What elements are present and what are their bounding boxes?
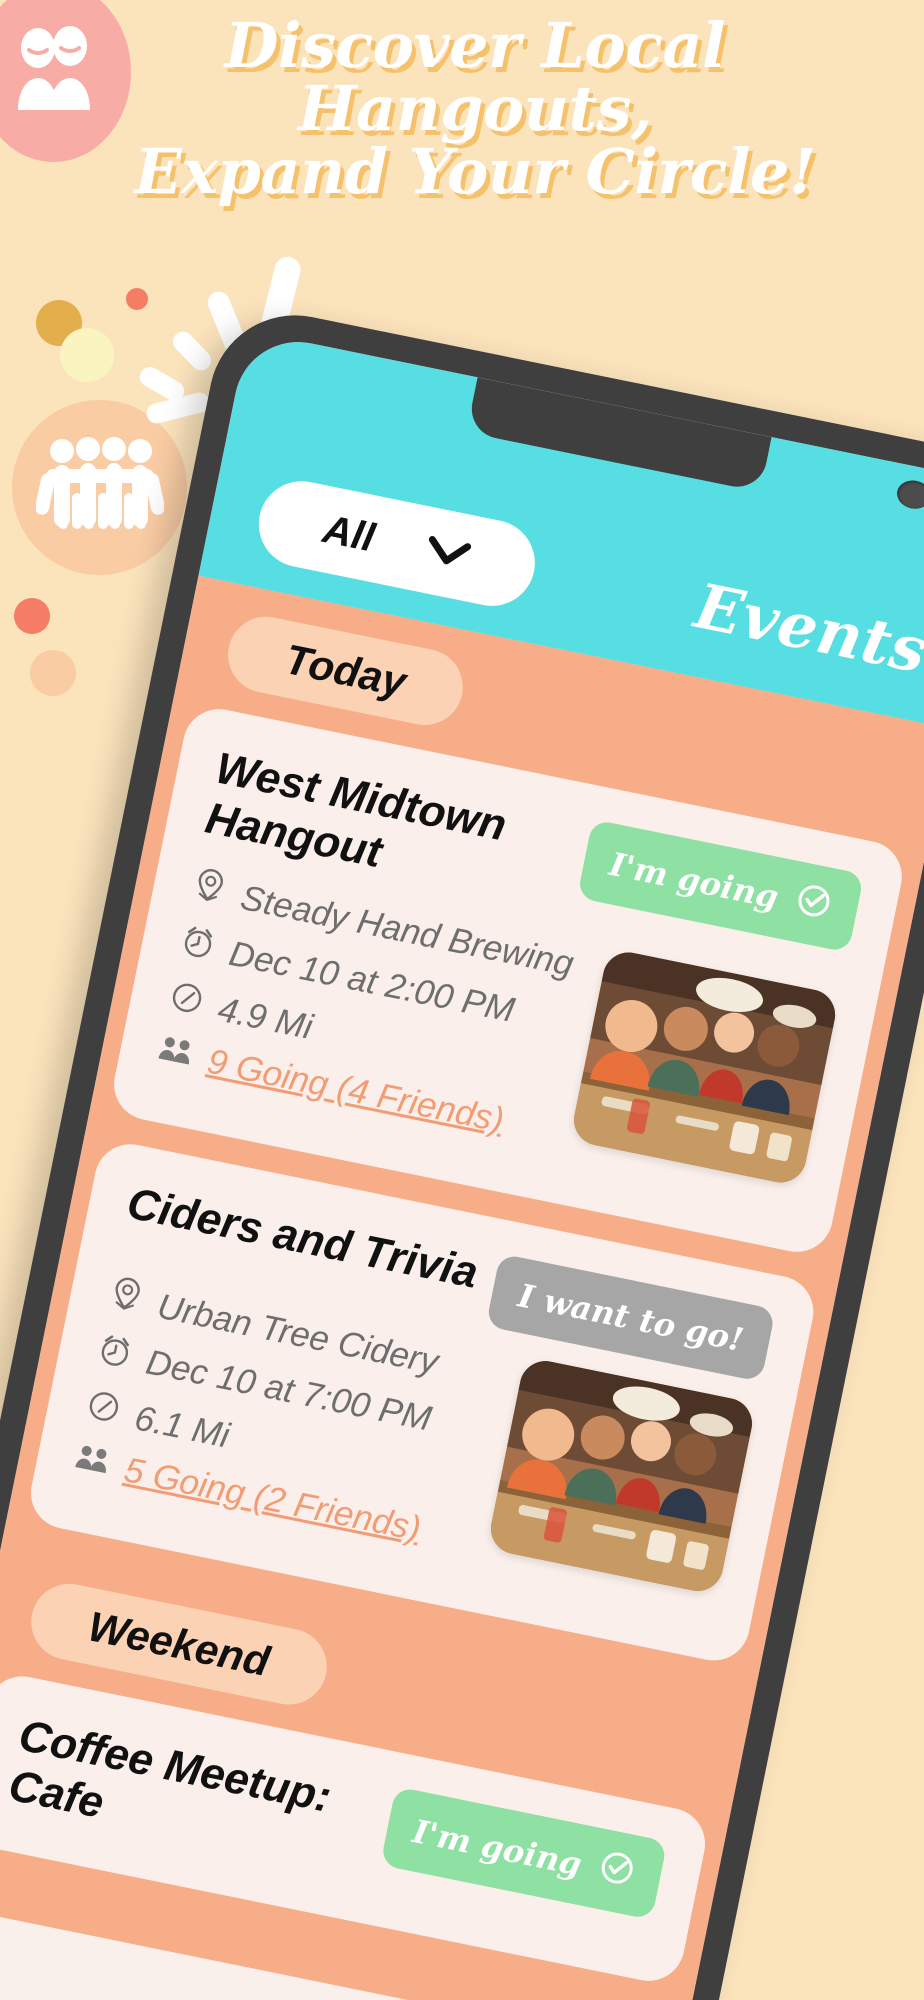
page-title: Discover Local Hangouts, Expand Your Cir… — [80, 14, 870, 204]
decor-dot-red — [14, 598, 50, 634]
rsvp-button[interactable]: I'm going — [380, 1786, 668, 1920]
event-title: Coffee Meetup: Cafe — [4, 1711, 378, 1882]
rsvp-label: I'm going — [606, 845, 781, 916]
compass-icon — [82, 1385, 125, 1438]
group-of-friends-icon — [36, 435, 164, 540]
date-pill: Today — [221, 610, 469, 732]
check-circle-icon — [791, 880, 835, 930]
check-circle-icon — [594, 1847, 638, 1897]
event-thumbnail[interactable] — [569, 948, 839, 1187]
event-distance: 4.9 Mi — [214, 989, 315, 1047]
compass-icon — [165, 976, 208, 1029]
filter-dropdown[interactable]: All — [251, 474, 543, 614]
people-group-icon — [155, 1032, 196, 1078]
alarm-clock-icon — [176, 920, 219, 973]
rsvp-label: I want to go! — [515, 1277, 747, 1360]
group-badge — [12, 400, 187, 575]
map-pin-icon — [104, 1273, 147, 1326]
event-distance: 6.1 Mi — [131, 1398, 232, 1456]
map-pin-icon — [187, 864, 230, 917]
chevron-down-icon[interactable] — [422, 533, 474, 575]
phone-screen: All Events Today W — [0, 331, 924, 2000]
decor-dot-red-small — [126, 288, 148, 310]
alarm-clock-icon — [93, 1329, 136, 1382]
poster-stage: Discover Local Hangouts, Expand Your Cir… — [0, 0, 924, 2000]
rsvp-button[interactable]: I'm going — [577, 819, 865, 953]
event-thumbnail[interactable] — [486, 1357, 756, 1596]
filter-label: All — [319, 507, 378, 561]
event-title: Ciders and Trivia — [123, 1179, 482, 1300]
app-title: Events — [688, 569, 924, 693]
decor-dot-cream — [60, 328, 114, 382]
rsvp-label: I'm going — [409, 1812, 584, 1883]
decor-dot-peach — [30, 650, 76, 696]
people-group-icon — [72, 1441, 113, 1487]
